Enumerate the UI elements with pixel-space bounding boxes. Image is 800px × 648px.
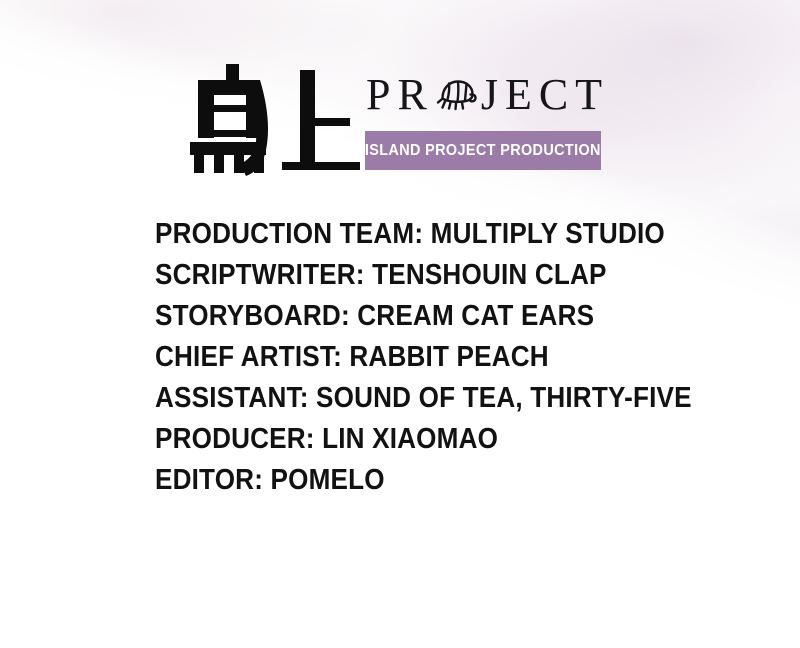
credit-line-chief-artist: CHIEF ARTIST: RABBIT PEACH (155, 337, 695, 378)
credit-line-editor: EDITOR: POMELO (155, 460, 695, 501)
credit-line-storyboard: STORYBOARD: CREAM CAT EARS (155, 296, 695, 337)
tagline-text: ISLAND PROJECT PRODUCTION (365, 142, 601, 160)
credit-line-production-team: PRODUCTION TEAM: MULTIPLY STUDIO (155, 214, 695, 255)
logo-lockup: PR (190, 58, 620, 183)
wordmark-suffix: JECT (481, 73, 609, 117)
credit-line-assistant: ASSISTANT: SOUND OF TEA, THIRTY-FIVE (155, 378, 695, 419)
turtle-icon (435, 73, 479, 117)
project-wordmark: PR (366, 64, 616, 126)
credit-line-producer: PRODUCER: LIN XIAOMAO (155, 419, 695, 460)
credits-list: PRODUCTION TEAM: MULTIPLY STUDIO SCRIPTW… (155, 214, 755, 501)
credits-page: PR (0, 0, 800, 648)
niao-shang-characters (190, 58, 362, 178)
tagline-banner: ISLAND PROJECT PRODUCTION (365, 131, 601, 170)
wordmark-prefix: PR (366, 73, 434, 117)
credit-line-scriptwriter: SCRIPTWRITER: TENSHOUIN CLAP (155, 255, 695, 296)
